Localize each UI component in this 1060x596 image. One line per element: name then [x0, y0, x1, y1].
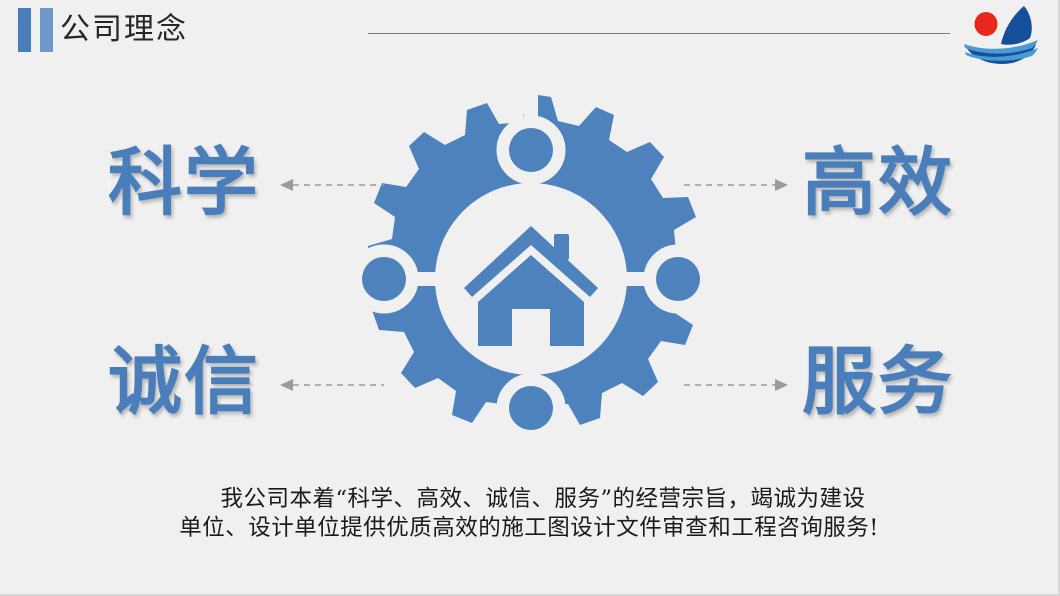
page-title: 公司理念 — [60, 8, 188, 52]
label-kexue: 科学 — [108, 146, 260, 220]
arrow-bottom-right-icon — [684, 378, 788, 392]
caption-line-1: 我公司本着“科学、高效、诚信、服务”的经营宗旨，竭诚为建设 — [50, 485, 1008, 514]
arrow-bottom-left-icon — [280, 378, 384, 392]
arrow-top-right-icon — [684, 178, 788, 192]
caption-line-2: 单位、设计单位提供优质高效的施工图设计文件审查和工程咨询服务! — [50, 514, 1008, 543]
arrow-top-left-icon — [280, 178, 384, 192]
label-gaoxiao: 高效 — [802, 146, 954, 220]
sailboat-logo — [954, 2, 1050, 74]
header-divider — [368, 33, 950, 34]
accent-bar-light — [40, 8, 53, 52]
caption-block: 我公司本着“科学、高效、诚信、服务”的经营宗旨，竭诚为建设 单位、设计单位提供优… — [50, 485, 1008, 543]
slide-canvas: 公司理念 — [0, 0, 1060, 596]
label-fuwu: 服务 — [802, 345, 954, 419]
gear-puzzle-icon — [296, 74, 766, 484]
title-accent-bars — [18, 8, 53, 52]
accent-bar-dark — [18, 8, 31, 52]
label-chengxin: 诚信 — [108, 345, 260, 419]
